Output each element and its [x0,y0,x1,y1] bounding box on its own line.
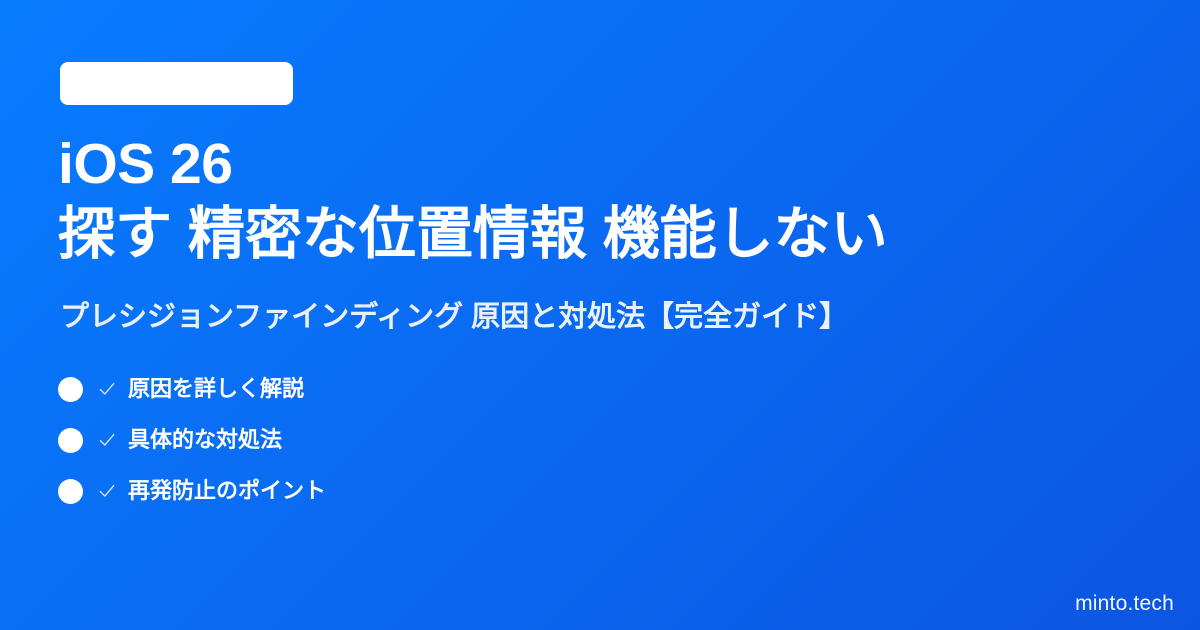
bullet-dot-icon [58,377,83,402]
check-icon [97,481,117,501]
check-icon [97,379,117,399]
site-brand: minto.tech [1075,593,1174,614]
feature-label: 原因を詳しく解説 [128,378,304,400]
hero-card: iOS 26 探す 精密な位置情報 機能しない プレシジョンファインディング 原… [0,0,1200,630]
page-title-line-2: 探す 精密な位置情報 機能しない [58,200,1148,270]
feature-list: 原因を詳しく解説 具体的な対処法 再発防止のポイント [58,376,326,504]
headline-block: iOS 26 探す 精密な位置情報 機能しない [58,130,1148,269]
list-item: 再発防止のポイント [58,478,326,504]
category-badge [60,62,293,105]
page-title-line-1: iOS 26 [58,130,1148,200]
page-subtitle: プレシジョンファインディング 原因と対処法【完全ガイド】 [60,299,848,337]
bullet-dot-icon [58,428,83,453]
bullet-dot-icon [58,479,83,504]
check-icon [97,430,117,450]
list-item: 原因を詳しく解説 [58,376,326,402]
list-item: 具体的な対処法 [58,427,326,453]
feature-label: 具体的な対処法 [128,429,282,451]
feature-label: 再発防止のポイント [128,480,326,502]
